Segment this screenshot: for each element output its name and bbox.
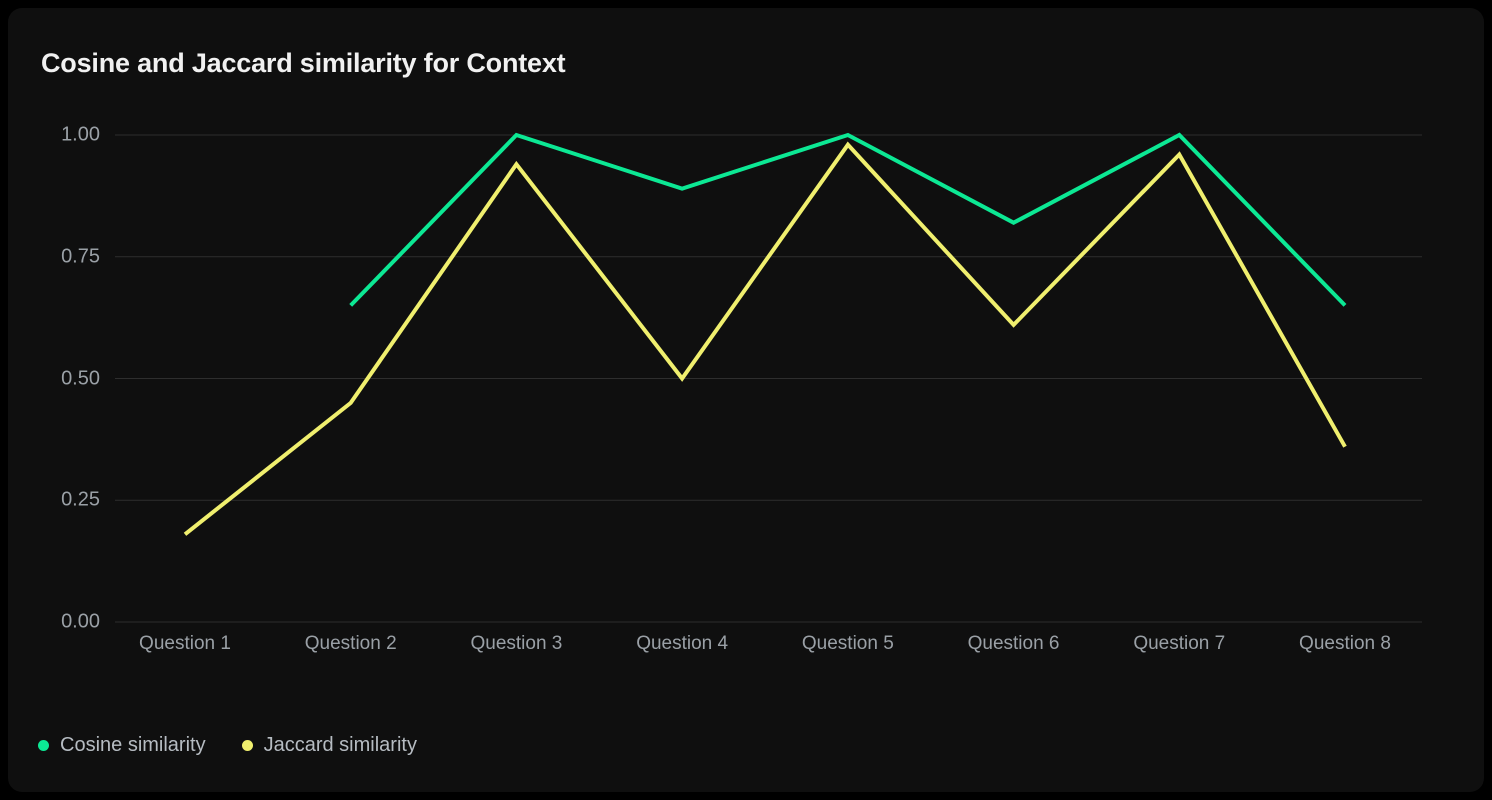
- y-tick-label: 0.25: [20, 489, 100, 512]
- legend-item-jaccard[interactable]: Jaccard similarity: [242, 734, 417, 757]
- y-tick-label: 0.00: [20, 611, 100, 634]
- legend-dot-cosine-icon: [38, 740, 49, 751]
- x-tick-label-8: Question 8: [1299, 633, 1391, 655]
- y-tick-label: 0.75: [20, 245, 100, 268]
- legend-label: Cosine similarity: [60, 734, 206, 757]
- x-tick-label-5: Question 5: [802, 633, 894, 655]
- x-tick-label-3: Question 3: [470, 633, 562, 655]
- y-tick-label: 0.50: [20, 367, 100, 390]
- plot-area: 0.000.250.500.751.00 Question 1Question …: [8, 8, 1484, 792]
- x-tick-label-7: Question 7: [1133, 633, 1225, 655]
- x-tick-label-4: Question 4: [636, 633, 728, 655]
- chart-legend: Cosine similarityJaccard similarity: [38, 734, 417, 757]
- gridlines: [115, 135, 1422, 622]
- x-tick-label-2: Question 2: [305, 633, 397, 655]
- legend-dot-jaccard-icon: [242, 740, 253, 751]
- x-tick-label-6: Question 6: [968, 633, 1060, 655]
- legend-item-cosine[interactable]: Cosine similarity: [38, 734, 206, 757]
- series-line-cosine[interactable]: [351, 135, 1345, 305]
- x-tick-label-1: Question 1: [139, 633, 231, 655]
- y-tick-label: 1.00: [20, 124, 100, 147]
- series-lines: [185, 135, 1345, 534]
- chart-card: Cosine and Jaccard similarity for Contex…: [8, 8, 1484, 792]
- line-chart-svg: [8, 8, 1484, 792]
- legend-label: Jaccard similarity: [264, 734, 417, 757]
- series-line-jaccard[interactable]: [185, 145, 1345, 535]
